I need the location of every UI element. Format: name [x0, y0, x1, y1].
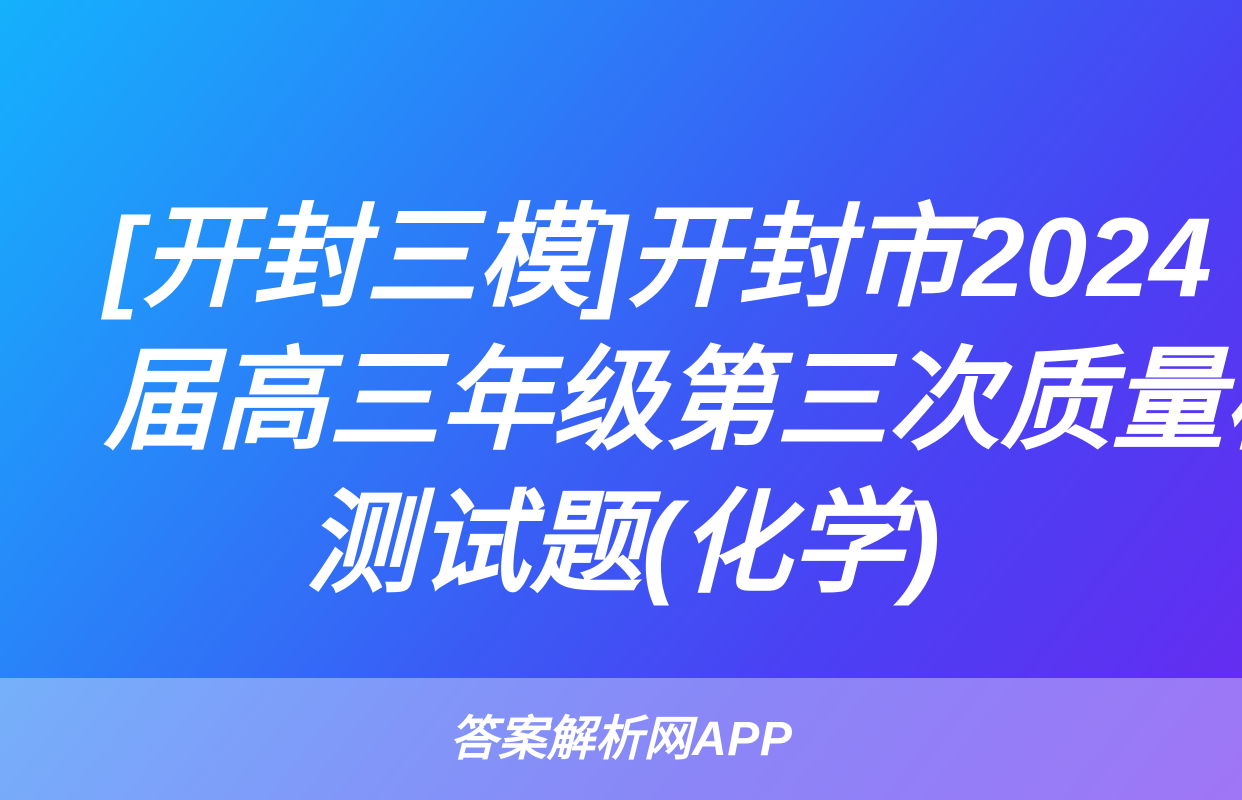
- title-char: 次: [888, 329, 1000, 472]
- title-char: 开: [627, 186, 739, 329]
- app-watermark-text: 答案解析网APP: [450, 699, 793, 769]
- title-char: 封: [253, 186, 365, 329]
- title-char: 市: [851, 186, 963, 329]
- title-char: 级: [552, 329, 664, 472]
- title-char: [: [104, 186, 141, 329]
- title-char: 量: [1112, 329, 1224, 472]
- title-char: 第: [664, 329, 776, 472]
- title-char: 0: [1025, 186, 1087, 329]
- title-line-1: [ 开 封 三 模 ] 开 封 市 2 0 2 4: [104, 186, 1142, 329]
- title-char: 2: [963, 186, 1025, 329]
- title-line-3: 测试题(化学): [104, 472, 1142, 615]
- title-char: 届: [104, 329, 216, 472]
- title-line-2: 届 高 三 年 级 第 三 次 质 量 检: [104, 329, 1142, 472]
- title-char: 检: [1224, 329, 1242, 472]
- title-char: 2: [1087, 186, 1149, 329]
- title-char: 年: [440, 329, 552, 472]
- poster-canvas: [ 开 封 三 模 ] 开 封 市 2 0 2 4 届 高 三 年 级 第 三 …: [0, 0, 1242, 800]
- page-title: [ 开 封 三 模 ] 开 封 市 2 0 2 4 届 高 三 年 级 第 三 …: [104, 186, 1142, 615]
- title-char: 开: [141, 186, 253, 329]
- title-char: 三: [328, 329, 440, 472]
- app-watermark: 答案解析网APP: [0, 703, 1242, 765]
- title-char: 模: [477, 186, 589, 329]
- title-line-3-text: 测试题(化学): [306, 472, 941, 615]
- title-char: 质: [1000, 329, 1112, 472]
- title-char: 封: [739, 186, 851, 329]
- title-char: ]: [589, 186, 626, 329]
- title-char: 三: [365, 186, 477, 329]
- title-char: 三: [776, 329, 888, 472]
- title-char: 高: [216, 329, 328, 472]
- title-char: 4: [1149, 186, 1211, 329]
